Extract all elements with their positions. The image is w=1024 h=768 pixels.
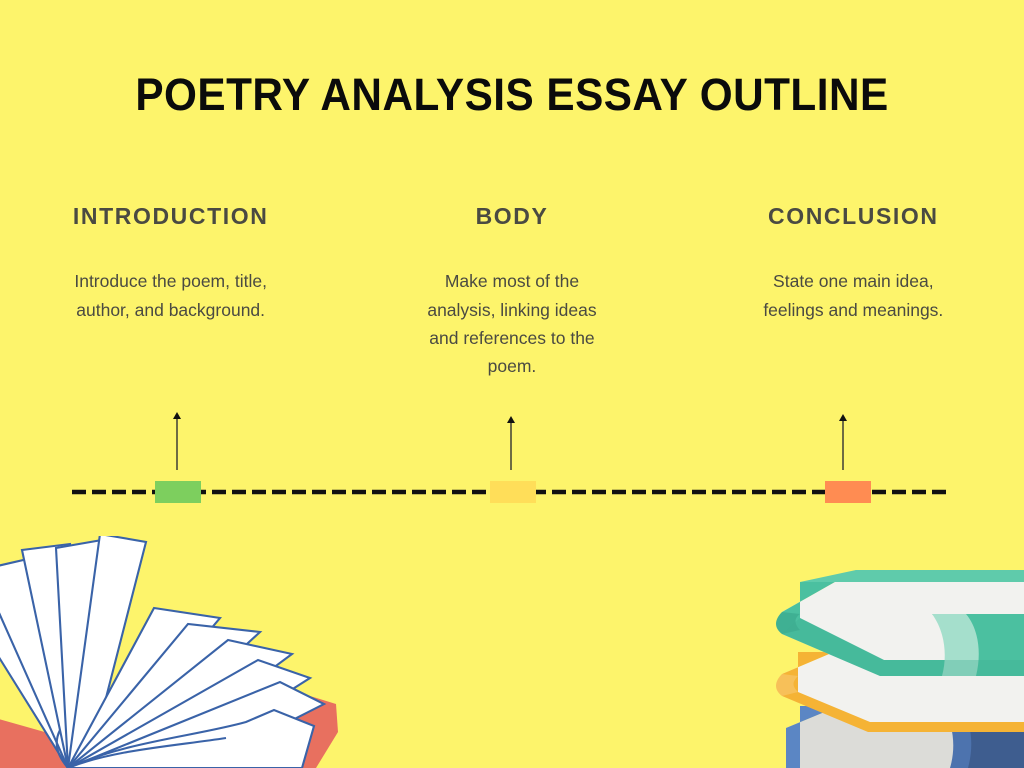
column-body-conclusion: State one main idea, feelings and meanin…: [753, 267, 953, 324]
teal-book-spine-highlight: [932, 614, 979, 676]
open-book-page: [0, 558, 76, 768]
amber-book-spine: [776, 674, 798, 696]
column-heading-body: BODY: [476, 204, 549, 229]
teal-book-cover-top: [800, 570, 1024, 582]
arrow-up-icon: [173, 412, 181, 419]
book-stack-illustration: [764, 556, 1024, 768]
open-book-spine: [57, 730, 68, 768]
open-book-page: [68, 536, 146, 768]
arrow-up-icon: [839, 414, 847, 421]
open-book-page: [68, 608, 220, 768]
column-body-body: Make most of the analysis, linking ideas…: [412, 267, 612, 380]
teal-book-edge-shadow: [782, 618, 1024, 676]
column-conclusion: CONCLUSION State one main idea, feelings…: [683, 204, 1024, 324]
open-book-page: [0, 582, 76, 768]
open-book-illustration: [0, 536, 356, 768]
amber-book-pages: [782, 640, 1024, 732]
column-heading-conclusion: CONCLUSION: [768, 204, 939, 229]
teal-book-cover: [782, 570, 1024, 676]
blue-book-spine: [942, 706, 1024, 768]
column-heading-introduction: INTRODUCTION: [73, 204, 269, 229]
column-body-introduction: Introduce the poem, title, author, and b…: [68, 267, 273, 324]
open-book-page: [68, 640, 292, 768]
open-book-page: [68, 682, 324, 768]
open-book-cover-right: [270, 688, 338, 768]
outline-columns: INTRODUCTION Introduce the poem, title, …: [0, 204, 1024, 381]
blue-book-cover: [786, 694, 1024, 768]
page-title: POETRY ANALYSIS ESSAY OUTLINE: [31, 72, 994, 117]
open-book-page: [56, 540, 102, 768]
column-body: BODY Make most of the analysis, linking …: [341, 204, 682, 381]
column-introduction: INTRODUCTION Introduce the poem, title, …: [0, 204, 341, 324]
conclusion-marker: [825, 481, 871, 503]
open-book-page: [68, 660, 310, 768]
open-book-front-spread: [68, 710, 314, 768]
timeline-markers: [155, 481, 871, 503]
open-book-page-crease: [68, 738, 226, 768]
amber-book-cover: [782, 640, 1024, 732]
open-book-page: [22, 544, 76, 768]
open-book-cover-left: [0, 712, 80, 768]
body-marker: [490, 481, 536, 503]
poster-canvas: POETRY ANALYSIS ESSAY OUTLINE INTRODUCTI…: [0, 0, 1024, 768]
teal-book-pages: [782, 570, 1024, 676]
open-book-page: [68, 624, 260, 768]
introduction-marker: [155, 481, 201, 503]
blue-book-pages: [786, 694, 1024, 768]
timeline-stems: [173, 412, 847, 470]
arrow-up-icon: [507, 416, 515, 423]
teal-book-spine-edge: [776, 612, 800, 634]
teal-book-spine: [932, 614, 1024, 676]
blue-book-spine-highlight: [942, 706, 971, 768]
